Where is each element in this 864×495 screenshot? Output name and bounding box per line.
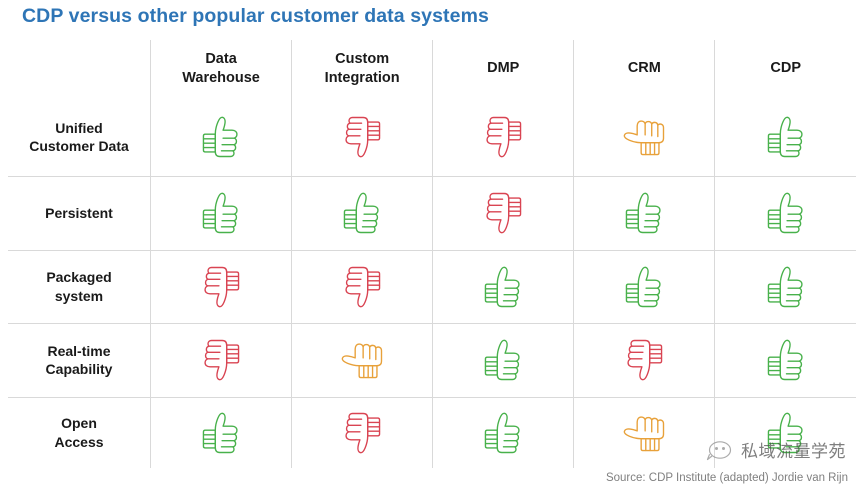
matrix-row: Packagedsystem bbox=[8, 250, 856, 324]
matrix-cell bbox=[715, 250, 856, 324]
row-header-4: Real-timeCapability bbox=[8, 324, 151, 398]
matrix-cell bbox=[574, 98, 715, 177]
thumbs-up-icon bbox=[760, 128, 812, 145]
column-header-3: DMP bbox=[433, 40, 574, 98]
matrix-cell bbox=[574, 177, 715, 251]
thumbs-up-icon bbox=[336, 204, 388, 221]
matrix-cell bbox=[433, 324, 574, 398]
header-row: DataWarehouseCustomIntegrationDMPCRMCDP bbox=[8, 40, 856, 98]
thumbs-up-icon bbox=[477, 424, 529, 441]
column-header-line1: Custom bbox=[292, 50, 432, 69]
matrix-cell bbox=[433, 177, 574, 251]
thumbs-up-icon bbox=[760, 351, 812, 368]
thumbs-down-icon bbox=[618, 351, 670, 368]
matrix-header: DataWarehouseCustomIntegrationDMPCRMCDP bbox=[8, 40, 856, 98]
wechat-logo-icon bbox=[705, 439, 735, 461]
matrix-cell bbox=[151, 324, 292, 398]
matrix-cell bbox=[433, 397, 574, 468]
row-header-5: OpenAccess bbox=[8, 397, 151, 468]
watermark: 私域流量学苑 bbox=[705, 437, 846, 462]
thumbs-down-icon bbox=[336, 128, 388, 145]
thumbs-down-icon bbox=[477, 128, 529, 145]
matrix-cell bbox=[292, 250, 433, 324]
column-header-line1: DMP bbox=[433, 59, 573, 78]
thumbs-down-icon bbox=[336, 424, 388, 441]
matrix-corner-cell bbox=[8, 40, 151, 98]
thumbs-down-icon bbox=[195, 278, 247, 295]
matrix-cell bbox=[715, 324, 856, 398]
matrix-cell bbox=[292, 98, 433, 177]
matrix-cell bbox=[433, 250, 574, 324]
column-header-line1: CDP bbox=[715, 59, 856, 78]
matrix-cell bbox=[715, 98, 856, 177]
thumbs-up-icon bbox=[195, 128, 247, 145]
row-header-line2: Customer Data bbox=[8, 137, 150, 155]
row-header-2: Persistent bbox=[8, 177, 151, 251]
matrix-cell bbox=[433, 98, 574, 177]
matrix-row: UnifiedCustomer Data bbox=[8, 98, 856, 177]
thumbs-down-icon bbox=[336, 278, 388, 295]
column-header-5: CDP bbox=[715, 40, 856, 98]
thumbs-up-icon bbox=[618, 278, 670, 295]
column-header-1: DataWarehouse bbox=[151, 40, 292, 98]
watermark-text: 私域流量学苑 bbox=[741, 437, 846, 462]
column-header-2: CustomIntegration bbox=[292, 40, 433, 98]
comparison-matrix: DataWarehouseCustomIntegrationDMPCRMCDP … bbox=[8, 40, 856, 468]
thumbs-up-icon bbox=[760, 204, 812, 221]
row-header-line2: Capability bbox=[8, 360, 150, 378]
row-header-3: Packagedsystem bbox=[8, 250, 151, 324]
matrix-cell bbox=[151, 177, 292, 251]
thumbs-up-icon bbox=[195, 424, 247, 441]
thumbs-up-icon bbox=[477, 351, 529, 368]
thumbs-up-icon bbox=[618, 204, 670, 221]
row-header-line2: system bbox=[8, 287, 150, 305]
matrix-cell bbox=[151, 397, 292, 468]
matrix-row: Real-timeCapability bbox=[8, 324, 856, 398]
column-header-line2: Warehouse bbox=[151, 69, 291, 88]
matrix-cell bbox=[574, 250, 715, 324]
row-header-line1: Open bbox=[8, 414, 150, 432]
column-header-4: CRM bbox=[574, 40, 715, 98]
matrix-cell bbox=[292, 397, 433, 468]
column-header-line2: Integration bbox=[292, 69, 432, 88]
thumbs-sideways-icon bbox=[336, 351, 388, 368]
thumbs-up-icon bbox=[477, 278, 529, 295]
row-header-1: UnifiedCustomer Data bbox=[8, 98, 151, 177]
row-header-line1: Packaged bbox=[8, 268, 150, 286]
row-header-line1: Real-time bbox=[8, 342, 150, 360]
source-credit: Source: CDP Institute (adapted) Jordie v… bbox=[606, 472, 848, 484]
matrix-cell bbox=[574, 324, 715, 398]
matrix-cell bbox=[292, 324, 433, 398]
matrix-cell bbox=[151, 250, 292, 324]
row-header-line1: Unified bbox=[8, 119, 150, 137]
page-title: CDP versus other popular customer data s… bbox=[22, 5, 489, 28]
row-header-line2: Access bbox=[8, 433, 150, 451]
matrix-cell bbox=[715, 177, 856, 251]
matrix-row: Persistent bbox=[8, 177, 856, 251]
thumbs-sideways-icon bbox=[618, 424, 670, 441]
matrix-cell bbox=[292, 177, 433, 251]
column-header-line1: Data bbox=[151, 50, 291, 69]
matrix-cell bbox=[574, 397, 715, 468]
thumbs-up-icon bbox=[195, 204, 247, 221]
thumbs-up-icon bbox=[760, 278, 812, 295]
matrix-cell bbox=[151, 98, 292, 177]
matrix-body: UnifiedCustomer DataPersistentPackagedsy… bbox=[8, 98, 856, 468]
row-header-line1: Persistent bbox=[8, 204, 150, 222]
thumbs-sideways-icon bbox=[618, 128, 670, 145]
thumbs-down-icon bbox=[477, 204, 529, 221]
column-header-line1: CRM bbox=[574, 59, 714, 78]
thumbs-down-icon bbox=[195, 351, 247, 368]
infographic-page: CDP versus other popular customer data s… bbox=[0, 0, 864, 495]
